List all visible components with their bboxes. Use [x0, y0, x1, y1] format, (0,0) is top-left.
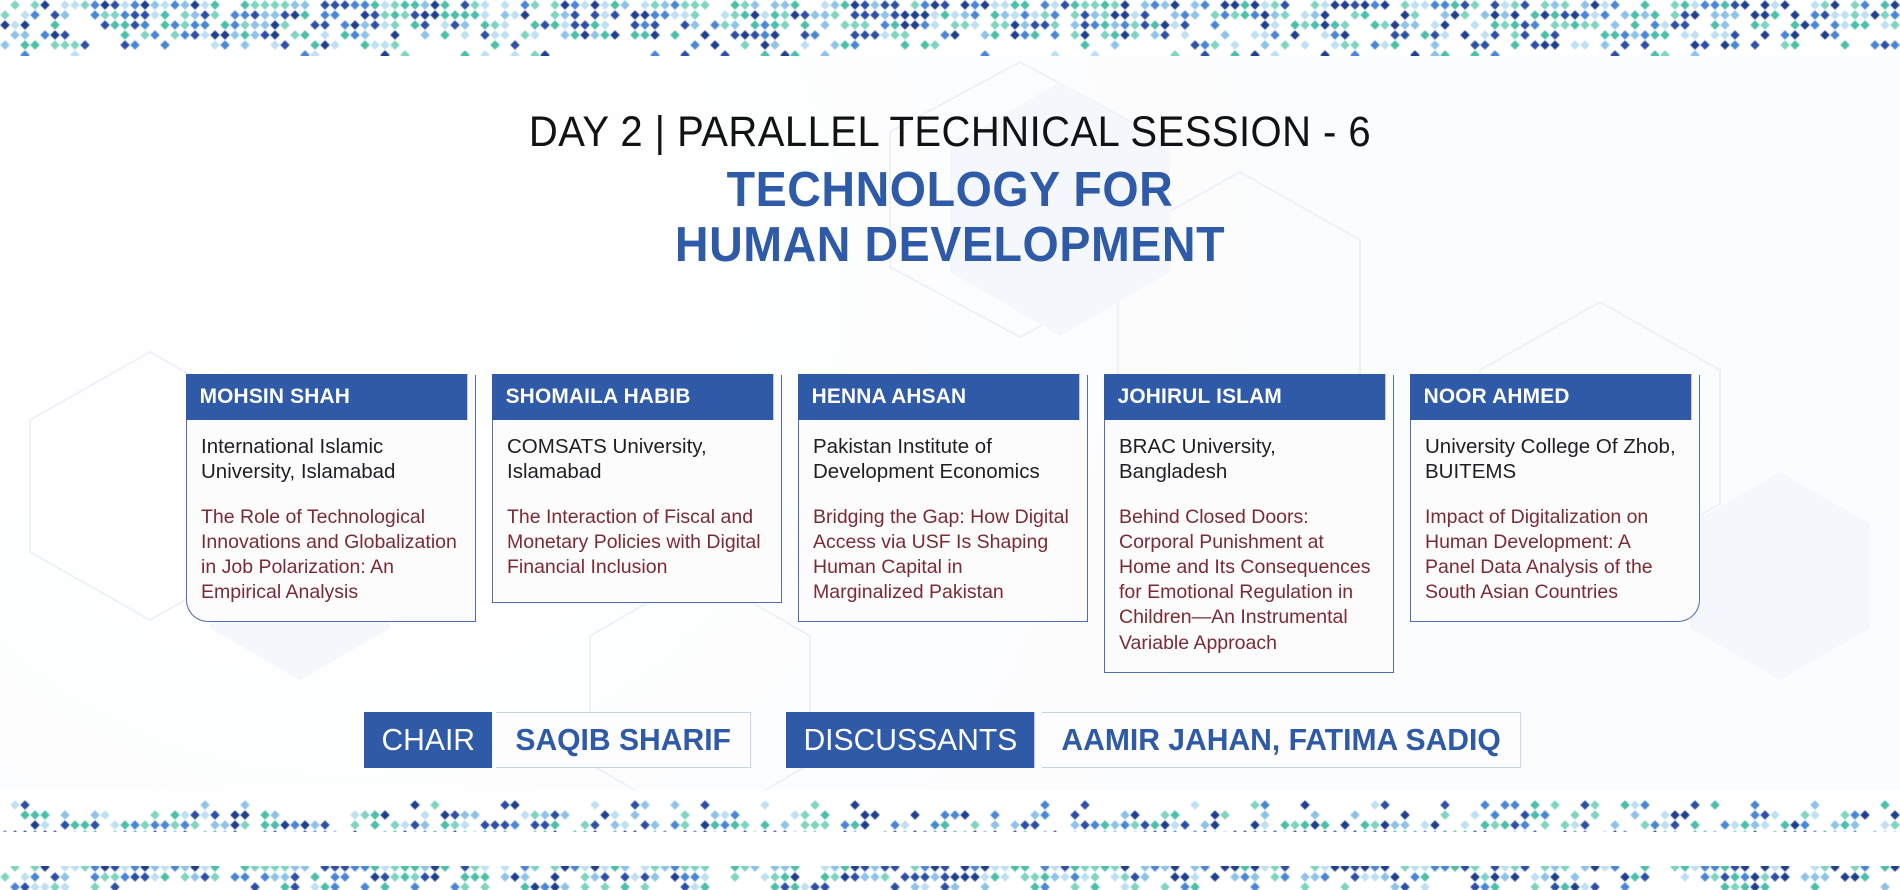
page-title-line-1: TECHNOLOGY FOR: [48, 163, 1853, 218]
speaker-card: MOHSIN SHAH International Islamic Univer…: [186, 375, 476, 622]
speaker-affiliation: International Islamic University, Islama…: [201, 434, 461, 485]
speaker-name: MOHSIN SHAH: [186, 374, 467, 420]
speaker-name: SHOMAILA HABIB: [492, 374, 773, 420]
footer-strip: [0, 832, 1900, 866]
speaker-card: SHOMAILA HABIB COMSATS University, Islam…: [492, 375, 782, 603]
paper-title: Bridging the Gap: How Digital Access via…: [813, 505, 1073, 606]
speaker-affiliation: COMSATS University, Islamabad: [507, 434, 767, 485]
speaker-name: JOHIRUL ISLAM: [1104, 374, 1385, 420]
speaker-affiliation: BRAC University, Bangladesh: [1119, 434, 1379, 485]
speaker-card-body: University College Of Zhob, BUITEMS Impa…: [1411, 420, 1699, 621]
discussants-names: AAMIR JAHAN, FATIMA SADIQ: [1042, 712, 1521, 768]
page-title: TECHNOLOGY FOR HUMAN DEVELOPMENT: [48, 163, 1853, 273]
speaker-name: HENNA AHSAN: [798, 374, 1079, 420]
speaker-card: HENNA AHSAN Pakistan Institute of Develo…: [798, 375, 1088, 622]
chair-block: CHAIR SAQIB SHARIF: [364, 712, 760, 768]
paper-title: Behind Closed Doors: Corporal Punishment…: [1119, 505, 1379, 656]
speaker-card-body: Pakistan Institute of Development Econom…: [799, 420, 1087, 621]
speaker-affiliation: University College Of Zhob, BUITEMS: [1425, 434, 1685, 485]
speaker-affiliation: Pakistan Institute of Development Econom…: [813, 434, 1073, 485]
page-title-line-2: HUMAN DEVELOPMENT: [48, 218, 1853, 273]
paper-title: The Interaction of Fiscal and Monetary P…: [507, 505, 767, 580]
discussants-label: DISCUSSANTS: [786, 712, 1035, 768]
speaker-card-body: BRAC University, Bangladesh Behind Close…: [1105, 420, 1393, 672]
chair-name: SAQIB SHARIF: [496, 712, 751, 768]
discussants-block: DISCUSSANTS AAMIR JAHAN, FATIMA SADIQ: [786, 712, 1536, 768]
paper-title: Impact of Digitalization on Human Develo…: [1425, 505, 1685, 606]
speaker-name: NOOR AHMED: [1410, 374, 1691, 420]
speaker-card-list: MOHSIN SHAH International Islamic Univer…: [186, 375, 1720, 655]
speaker-card-body: COMSATS University, Islamabad The Intera…: [493, 420, 781, 596]
chair-label: CHAIR: [364, 712, 492, 768]
speaker-card-body: International Islamic University, Islama…: [187, 420, 475, 621]
session-line: DAY 2 | PARALLEL TECHNICAL SESSION - 6: [67, 108, 1834, 157]
speaker-card: NOOR AHMED University College Of Zhob, B…: [1410, 375, 1700, 622]
roles-bar: CHAIR SAQIB SHARIF DISCUSSANTS AAMIR JAH…: [0, 712, 1900, 768]
speaker-card: JOHIRUL ISLAM BRAC University, Banglades…: [1104, 375, 1394, 673]
paper-title: The Role of Technological Innovations an…: [201, 505, 461, 606]
